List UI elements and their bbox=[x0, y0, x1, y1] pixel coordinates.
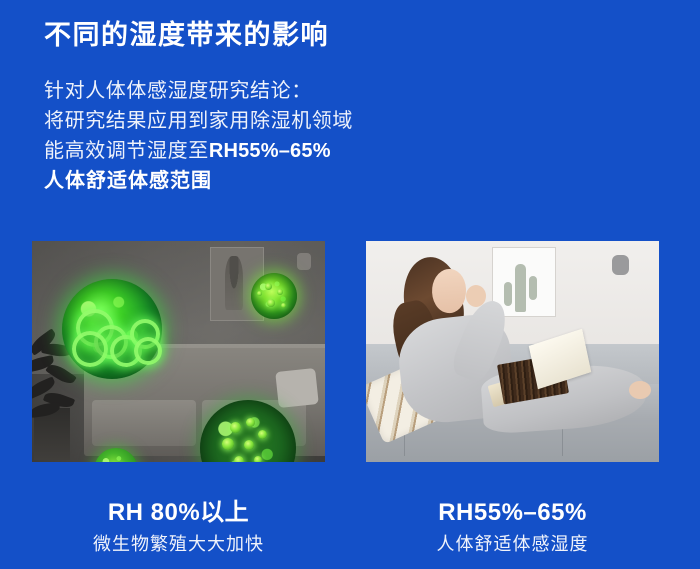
photo-panel-comfort-room bbox=[366, 241, 659, 462]
caption-subtitle: 人体舒适体感湿度 bbox=[366, 532, 659, 556]
sofa-pillow bbox=[275, 368, 319, 408]
comfort-room-photo bbox=[366, 241, 659, 462]
page-title: 不同的湿度带来的影响 bbox=[44, 18, 329, 52]
body-line-2: 将研究结果应用到家用除湿机领域 bbox=[44, 106, 353, 136]
caption-subtitle: 微生物繁殖大大加快 bbox=[32, 532, 325, 556]
photo-panel-mold-room bbox=[32, 241, 325, 462]
wall-speaker bbox=[297, 253, 311, 270]
woman-foot bbox=[629, 381, 651, 399]
body-line-4: 人体舒适体感范围 bbox=[44, 166, 353, 196]
body-line-3-prefix: 能高效调节湿度至 bbox=[44, 140, 209, 162]
woman-hand bbox=[466, 285, 486, 307]
caption-title: RH 80%以上 bbox=[32, 498, 325, 528]
body-line-1: 针对人体体感湿度研究结论： bbox=[44, 76, 353, 106]
caption-title: RH55%–65% bbox=[366, 498, 659, 528]
sofa-cushion bbox=[92, 400, 196, 446]
microbe-cluster-large bbox=[62, 279, 162, 379]
mold-room-photo bbox=[32, 241, 325, 462]
microbe-cluster-small bbox=[251, 273, 297, 319]
caption-mold-room: RH 80%以上 微生物繁殖大大加快 bbox=[32, 498, 325, 556]
humidity-range-emphasis: RH55%–65% bbox=[209, 140, 331, 162]
caption-comfort-room: RH55%–65% 人体舒适体感湿度 bbox=[366, 498, 659, 556]
slide-root: 不同的湿度带来的影响 针对人体体感湿度研究结论： 将研究结果应用到家用除湿机领域… bbox=[0, 0, 700, 569]
body-copy: 针对人体体感湿度研究结论： 将研究结果应用到家用除湿机领域 能高效调节湿度至RH… bbox=[44, 76, 353, 196]
body-line-3: 能高效调节湿度至RH55%–65% bbox=[44, 136, 353, 166]
wall-speaker bbox=[612, 255, 629, 275]
